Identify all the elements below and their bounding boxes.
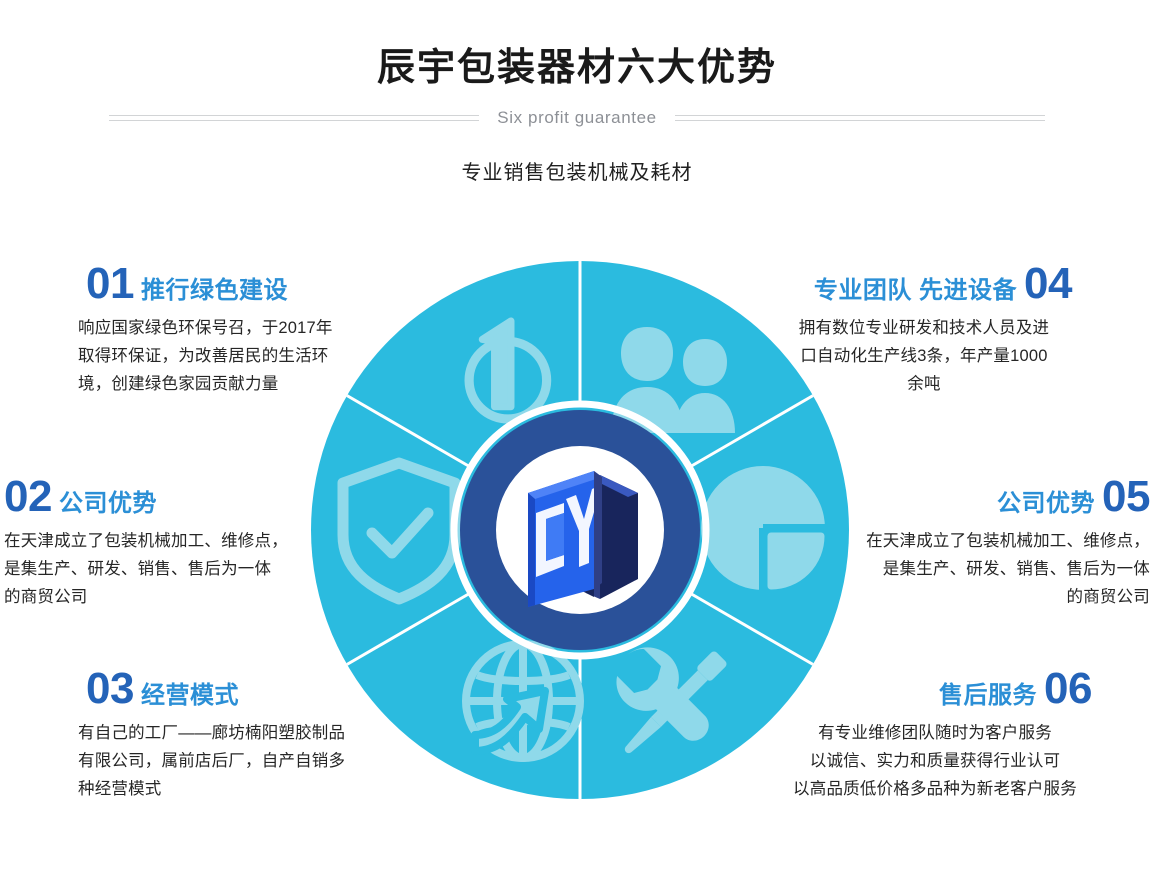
feature-03-line-2: 有限公司，属前店后厂，自产自销多 [78,747,398,775]
feature-03-number: 03 [86,668,134,710]
feature-item-02: 02 公司优势 在天津成立了包装机械加工、维修点， 是集生产、研发、销售、售后为… [4,476,304,611]
feature-01-line-2: 取得环保证，为改善居民的生活环 [78,342,378,370]
tagline: 专业销售包装机械及耗材 [0,156,1154,185]
feature-06-line-2: 以诚信、实力和质量获得行业认可 [770,747,1100,775]
feature-05-line-3: 的商贸公司 [852,583,1150,611]
feature-02-description: 在天津成立了包装机械加工、维修点， 是集生产、研发、销售、售后为一体 的商贸公司 [4,527,304,611]
feature-item-06: 售后服务 06 有专业维修团队随时为客户服务 以诚信、实力和质量获得行业认可 以… [770,668,1100,803]
subtitle-divider-row: Six profit guarantee [0,108,1154,128]
feature-02-line-1: 在天津成立了包装机械加工、维修点， [4,527,304,555]
subtitle-english: Six profit guarantee [497,108,656,128]
page-title: 辰宇包装器材六大优势 [0,36,1154,91]
feature-06-heading: 售后服务 06 [770,668,1100,710]
feature-01-caption: 推行绿色建设 [141,270,288,305]
feature-02-line-2: 是集生产、研发、销售、售后为一体 [4,555,304,583]
feature-03-line-1: 有自己的工厂——廊坊楠阳塑胶制品 [78,719,398,747]
feature-03-heading: 03 经营模式 [78,668,398,710]
feature-06-caption: 售后服务 [939,675,1037,710]
feature-04-line-2: 口自动化生产线3条，年产量1000 [776,342,1072,370]
infographic-page: 辰宇包装器材六大优势 Six profit guarantee 专业销售包装机械… [0,0,1154,894]
feature-01-line-3: 境，创建绿色家园贡献力量 [78,370,378,398]
feature-02-line-3: 的商贸公司 [4,583,304,611]
feature-04-line-3: 余吨 [776,370,1072,398]
feature-03-line-3: 种经营模式 [78,775,398,803]
feature-05-line-2: 是集生产、研发、销售、售后为一体 [852,555,1150,583]
feature-06-line-1: 有专业维修团队随时为客户服务 [770,719,1100,747]
feature-06-description: 有专业维修团队随时为客户服务 以诚信、实力和质量获得行业认可 以高品质低价格多品… [770,719,1100,803]
feature-01-description: 响应国家绿色环保号召，于2017年 取得环保证，为改善居民的生活环 境，创建绿色… [78,314,378,398]
feature-06-line-3: 以高品质低价格多品种为新老客户服务 [770,775,1100,803]
feature-02-caption: 公司优势 [59,483,157,518]
feature-06-number: 06 [1044,668,1092,710]
feature-01-number: 01 [86,263,134,305]
feature-02-number: 02 [4,476,52,518]
package-box-cy-logo [528,471,638,607]
feature-item-05: 公司优势 05 在天津成立了包装机械加工、维修点， 是集生产、研发、销售、售后为… [852,476,1150,611]
feature-02-heading: 02 公司优势 [4,476,304,518]
globe-growth-arrow-icon [466,644,580,758]
feature-05-caption: 公司优势 [997,483,1095,518]
feature-05-description: 在天津成立了包装机械加工、维修点， 是集生产、研发、销售、售后为一体 的商贸公司 [852,527,1150,611]
feature-04-line-1: 拥有数位专业研发和技术人员及进 [776,314,1072,342]
feature-05-line-1: 在天津成立了包装机械加工、维修点， [852,527,1150,555]
feature-item-04: 专业团队 先进设备 04 拥有数位专业研发和技术人员及进 口自动化生产线3条，年… [776,263,1072,398]
divider-line-left [109,115,479,121]
feature-03-description: 有自己的工厂——廊坊楠阳塑胶制品 有限公司，属前店后厂，自产自销多 种经营模式 [78,719,398,803]
feature-05-heading: 公司优势 05 [852,476,1150,518]
divider-line-right [675,115,1045,121]
feature-05-number: 05 [1102,476,1150,518]
feature-04-description: 拥有数位专业研发和技术人员及进 口自动化生产线3条，年产量1000 余吨 [776,314,1072,398]
feature-04-number: 04 [1024,263,1072,305]
feature-01-heading: 01 推行绿色建设 [78,263,378,305]
feature-item-01: 01 推行绿色建设 响应国家绿色环保号召，于2017年 取得环保证，为改善居民的… [78,263,378,398]
feature-item-03: 03 经营模式 有自己的工厂——廊坊楠阳塑胶制品 有限公司，属前店后厂，自产自销… [78,668,398,803]
feature-01-line-1: 响应国家绿色环保号召，于2017年 [78,314,378,342]
feature-04-caption: 专业团队 先进设备 [814,270,1017,305]
feature-03-caption: 经营模式 [141,675,239,710]
feature-04-heading: 专业团队 先进设备 04 [776,263,1072,305]
